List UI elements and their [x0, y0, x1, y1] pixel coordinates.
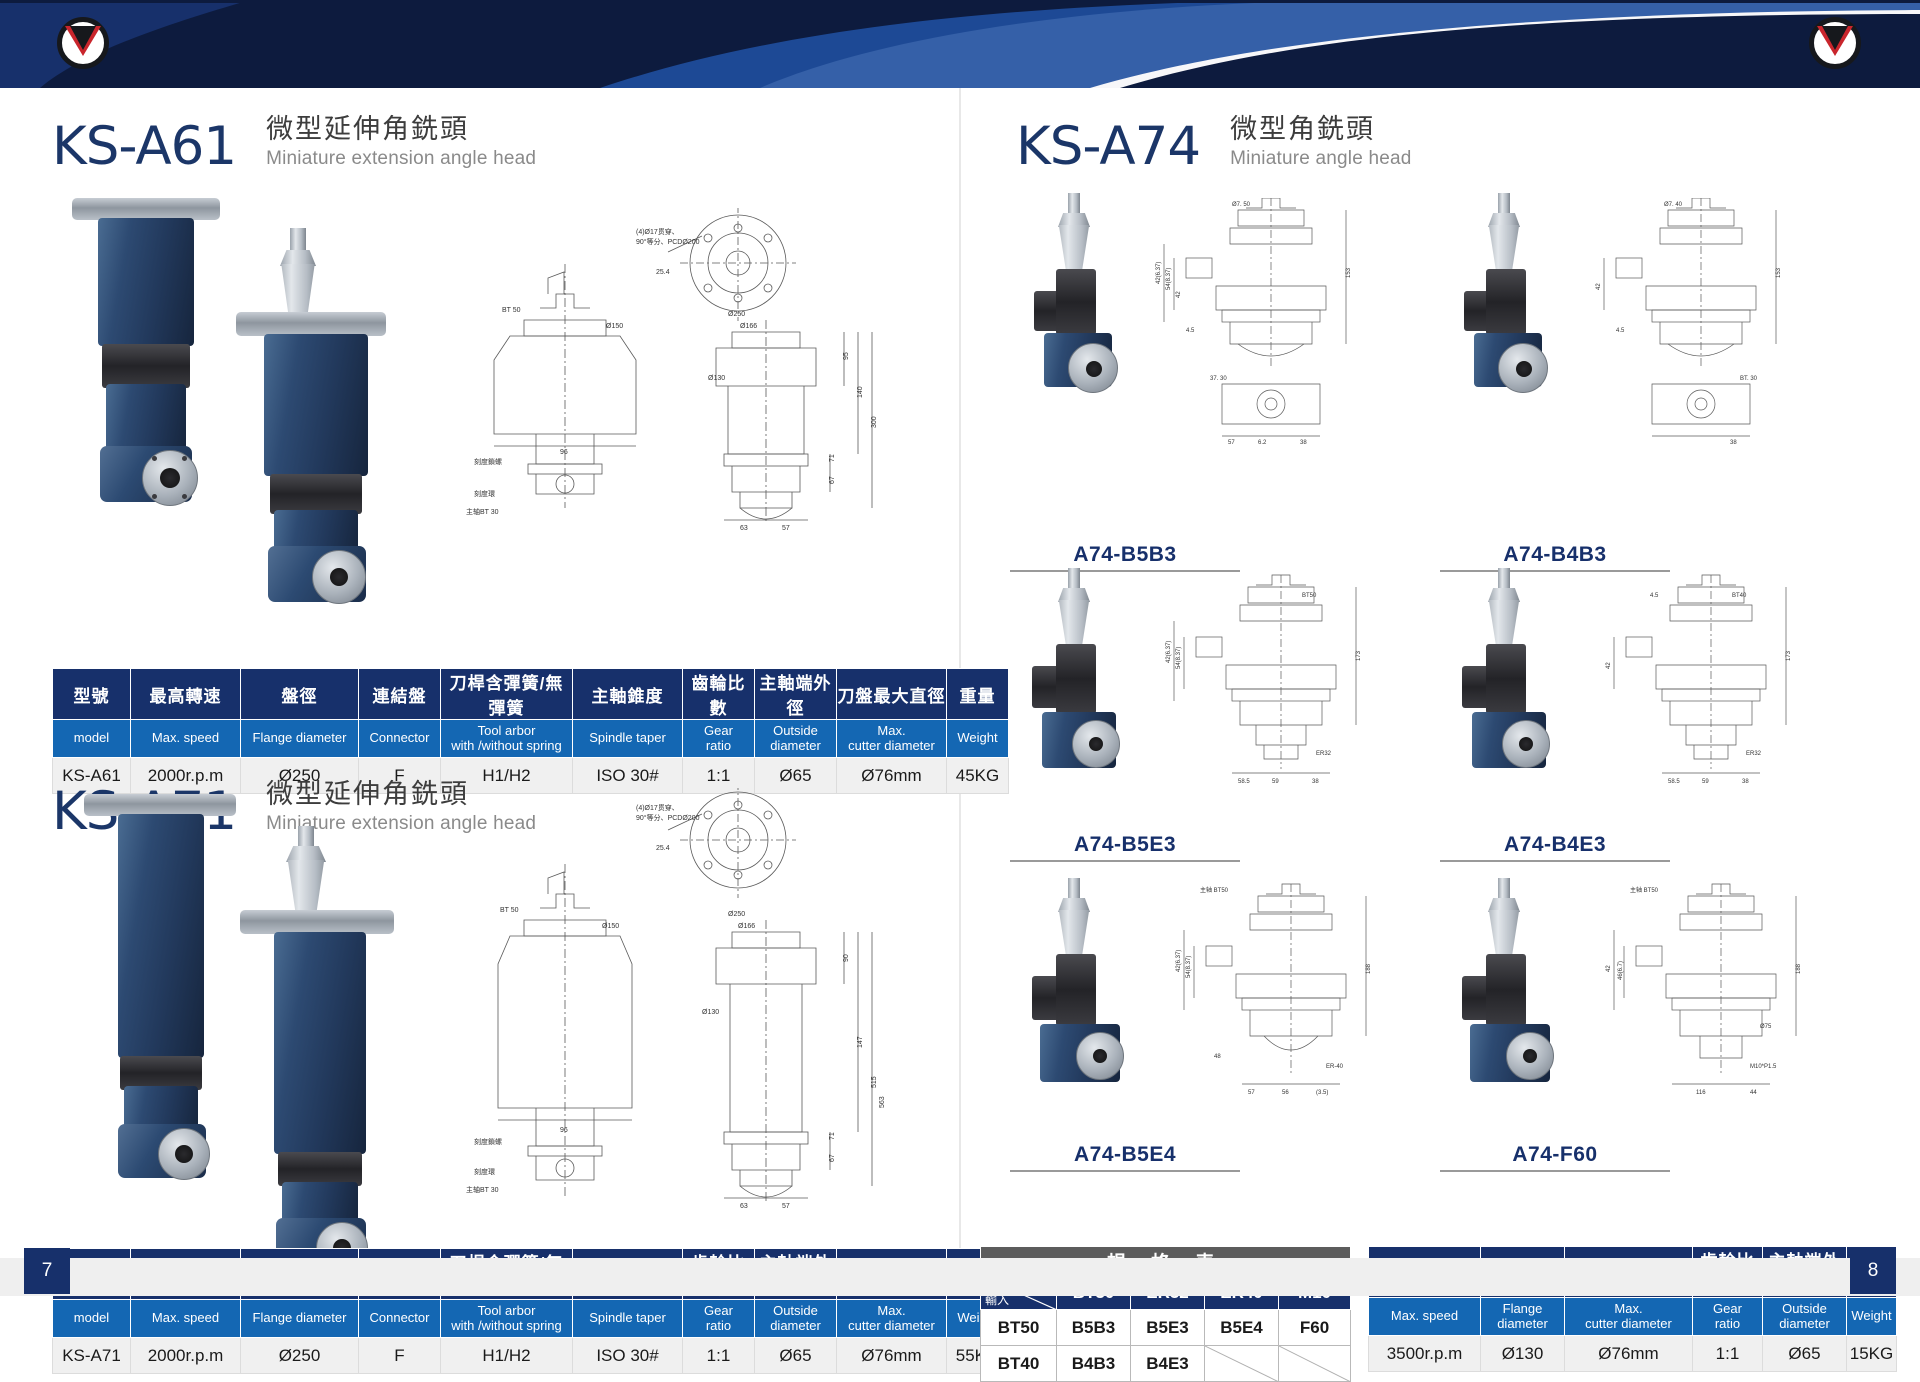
th-en-max-cutter-diameter: Max. cutter diameter [837, 1300, 947, 1338]
svg-text:BT50: BT50 [1302, 593, 1317, 599]
svg-text:71: 71 [829, 1132, 836, 1140]
th-en-gear-ratio: Gear ratio [683, 1300, 755, 1338]
svg-text:147: 147 [857, 1036, 864, 1048]
svg-text:Ø7. 50: Ø7. 50 [1232, 202, 1251, 208]
svg-text:63: 63 [740, 1203, 748, 1210]
technical-drawing-a74-b5b3: Ø7. 50 42(6.37) 54(8.37) 42 153 37. 30 4… [1150, 198, 1400, 448]
th-en-tool-arbor: Tool arbor with /without spring [441, 720, 573, 758]
product-photo-a74-f60 [1440, 878, 1600, 1138]
svg-text:54(8.37): 54(8.37) [1186, 956, 1192, 978]
section-name-en: Miniature extension angle head [266, 147, 536, 172]
table-header-row-en: model Max. speed Flange diameter Connect… [53, 720, 1009, 758]
th-en-spindle-taper: Spindle taper [573, 1300, 683, 1338]
right-page: KS-A74 微型角銑頭 Miniature angle head [960, 88, 1920, 1248]
svg-text:188: 188 [1796, 963, 1802, 974]
page-header-banner [0, 0, 1920, 88]
svg-text:主轴BT 30: 主轴BT 30 [466, 507, 499, 516]
svg-text:Ø250: Ø250 [728, 911, 745, 918]
svg-text:刻度環: 刻度環 [474, 1167, 495, 1176]
svg-text:90°等分、PCDØ200: 90°等分、PCDØ200 [636, 813, 700, 822]
product-photo-a74-b5e3 [1010, 568, 1160, 828]
banner-swoosh [0, 0, 1920, 88]
svg-text:153: 153 [1776, 267, 1782, 278]
svg-text:153: 153 [1346, 267, 1352, 278]
th-en-connector: Connector [359, 720, 441, 758]
svg-text:63: 63 [740, 525, 748, 532]
svg-text:173: 173 [1356, 650, 1362, 661]
svg-text:46(6.7): 46(6.7) [1618, 961, 1624, 980]
th-en-max-cutter-diameter: Max. cutter diameter [837, 720, 947, 758]
th-en-flange-diameter: Flange diameter [1481, 1298, 1565, 1336]
svg-text:57: 57 [1248, 1090, 1255, 1096]
th-en-max-speed: Max. speed [131, 720, 241, 758]
table-row: KS-A71 2000r.p.m Ø250 F H1/H2 ISO 30# 1:… [53, 1338, 1009, 1374]
section-name-cn: 微型延伸角銑頭 [266, 113, 536, 147]
svg-text:42(6.37): 42(6.37) [1166, 641, 1172, 663]
svg-text:ER-40: ER-40 [1326, 1064, 1344, 1070]
matrix-cell-bt40-er32: B4E3 [1131, 1346, 1205, 1382]
svg-text:BT 50: BT 50 [502, 307, 521, 314]
company-logo-left [48, 14, 122, 72]
th-en-spindle-taper: Spindle taper [573, 720, 683, 758]
footer-bar [0, 1258, 1920, 1296]
technical-drawing-a74-b5e3: BT50 42(6.37) 54(8.37) 173 ER32 58.5 59 … [1160, 573, 1410, 823]
spec-table-ks-a61: 型號 最高轉速 盤徑 連結盤 刀桿含彈簧/無彈簧 主軸錐度 齒輪比數 主軸端外徑… [52, 668, 1009, 794]
svg-text:BT 50: BT 50 [500, 907, 519, 914]
svg-text:ER32: ER32 [1316, 751, 1332, 757]
cell-gear-ratio: 1:1 [683, 1338, 755, 1374]
svg-text:25.4: 25.4 [656, 269, 670, 276]
svg-text:67: 67 [829, 1154, 836, 1162]
svg-text:(4)Ø17贯穿、: (4)Ø17贯穿、 [636, 227, 679, 236]
svg-text:58.5: 58.5 [1668, 779, 1680, 785]
th-en-gear-ratio: Gear ratio [683, 720, 755, 758]
product-photo-a74-b5e4 [1010, 878, 1170, 1138]
cell-max-speed: 2000r.p.m [131, 1338, 241, 1374]
logo-v-dark-icon [1822, 26, 1848, 50]
cell-outside-diameter: Ø65 [755, 1338, 837, 1374]
svg-text:71: 71 [829, 454, 836, 462]
svg-text:54(8.37): 54(8.37) [1176, 647, 1182, 669]
matrix-cell-bt40-m10-empty [1279, 1346, 1351, 1382]
th-cn-max-cutter-diameter: 刀盤最大直徑 [837, 669, 947, 720]
section-name-cn: 微型角銑頭 [1230, 113, 1411, 147]
page-number-right: 8 [1850, 1248, 1896, 1294]
technical-drawing-a74-b4e3: 4.5 BT40 42 173 ER32 58.5 59 38 [1590, 573, 1840, 823]
cell-weight: 15KG [1847, 1336, 1897, 1372]
th-en-max-speed: Max. speed [131, 1300, 241, 1338]
svg-text:Ø150: Ø150 [606, 323, 623, 330]
svg-text:42(6.37): 42(6.37) [1176, 950, 1182, 972]
svg-text:4.5: 4.5 [1616, 328, 1625, 334]
product-photo-a74-b4b3 [1440, 193, 1580, 453]
matrix-row-input-bt40: BT40 [981, 1346, 1057, 1382]
th-en-max-cutter-diameter: Max. cutter diameter [1565, 1298, 1693, 1336]
technical-drawing-a74-f60: 主轴 BT50 42 46(6.7) 188 M10*P1.5 116 44 Ø… [1600, 878, 1850, 1128]
technical-drawing-ks-a61: (4)Ø17贯穿、 90°等分、PCDØ200 25.4 BT 50 Ø150 … [440, 208, 940, 568]
product-photo-ks-a61-view2 [222, 228, 412, 608]
svg-text:主轴 BT50: 主轴 BT50 [1630, 886, 1659, 894]
company-logo-right [1800, 14, 1874, 72]
th-en-outside-diameter: Outside diameter [1763, 1298, 1847, 1336]
svg-text:515: 515 [871, 1076, 878, 1088]
svg-text:42: 42 [1606, 965, 1612, 972]
svg-text:42(6.37): 42(6.37) [1156, 262, 1162, 284]
th-en-model: model [53, 720, 131, 758]
svg-text:44: 44 [1750, 1090, 1757, 1096]
model-caption-a74-b5e4: A74-B5E4 [1010, 1143, 1240, 1175]
svg-text:56: 56 [1282, 1090, 1289, 1096]
svg-text:主轴BT 30: 主轴BT 30 [466, 1185, 499, 1194]
svg-text:刻度鎖螺: 刻度鎖螺 [474, 1137, 502, 1146]
product-photo-ks-a61-view1 [60, 198, 240, 538]
th-en-tool-arbor: Tool arbor with /without spring [441, 1300, 573, 1338]
section-title-ks-a74: KS-A74 微型角銑頭 Miniature angle head [1016, 113, 1412, 173]
th-en-outside-diameter: Outside diameter [755, 720, 837, 758]
svg-text:Ø130: Ø130 [708, 375, 725, 382]
svg-text:Ø75: Ø75 [1760, 1024, 1772, 1030]
logo-v-dark-icon [70, 26, 96, 50]
svg-text:54(8.37): 54(8.37) [1166, 268, 1172, 290]
matrix-cell-bt50-er32: B5E3 [1131, 1310, 1205, 1346]
th-cn-flange-diameter: 盤徑 [241, 669, 359, 720]
svg-text:96: 96 [560, 1127, 568, 1134]
cell-tool-arbor: H1/H2 [441, 1338, 573, 1374]
th-en-model: model [53, 1300, 131, 1338]
th-en-gear-ratio: Gear ratio [1693, 1298, 1763, 1336]
section-name-en: Miniature angle head [1230, 147, 1411, 172]
cell-model: KS-A71 [53, 1338, 131, 1374]
svg-text:ER32: ER32 [1746, 751, 1762, 757]
svg-text:Ø7. 40: Ø7. 40 [1664, 202, 1683, 208]
technical-drawing-a74-b5e4: 主轴 BT50 42(6.37) 54(8.37) 188 ER-40 57 5… [1170, 878, 1420, 1128]
svg-text:48: 48 [1214, 1054, 1221, 1060]
cell-spindle-taper: ISO 30# [573, 1338, 683, 1374]
svg-text:25.4: 25.4 [656, 845, 670, 852]
svg-text:M10*P1.5: M10*P1.5 [1750, 1064, 1777, 1070]
svg-text:57: 57 [782, 1203, 790, 1210]
diagonal-strike-icon [1205, 1346, 1278, 1382]
svg-text:59: 59 [1272, 779, 1279, 785]
cell-outside-diameter: Ø65 [1763, 1336, 1847, 1372]
svg-text:96: 96 [560, 449, 568, 456]
svg-text:4.5: 4.5 [1650, 593, 1659, 599]
svg-text:59: 59 [1702, 779, 1709, 785]
th-cn-gear-ratio: 齒輪比數 [683, 669, 755, 720]
th-en-weight: Weight [1847, 1298, 1897, 1336]
svg-text:38: 38 [1742, 779, 1749, 785]
cell-max-cutter-diameter: Ø76mm [1565, 1336, 1693, 1372]
svg-text:140: 140 [857, 386, 864, 398]
product-photo-a74-b5b3 [1010, 193, 1150, 453]
model-caption-a74-f60: A74-F60 [1440, 1143, 1670, 1175]
svg-text:Ø250: Ø250 [728, 311, 745, 318]
th-cn-connector: 連結盤 [359, 669, 441, 720]
th-cn-tool-arbor: 刀桿含彈簧/無彈簧 [441, 669, 573, 720]
svg-text:38: 38 [1730, 440, 1737, 446]
left-page: KS-A61 微型延伸角銑頭 Miniature extension angle… [0, 88, 960, 1248]
technical-drawing-a74-b4b3: Ø7. 40 42 153 4.5 38 BT. 30 [1580, 198, 1830, 448]
svg-text:116: 116 [1696, 1090, 1706, 1096]
product-photo-ks-a71-view2 [226, 826, 416, 1256]
svg-text:37. 30: 37. 30 [1210, 376, 1227, 382]
matrix-cell-bt50-m10: F60 [1279, 1310, 1351, 1346]
th-en-outside-diameter: Outside diameter [755, 1300, 837, 1338]
svg-text:BT40: BT40 [1732, 593, 1747, 599]
svg-text:38: 38 [1300, 440, 1307, 446]
matrix-cell-bt50-er40: B5E4 [1205, 1310, 1279, 1346]
svg-text:刻度鎖螺: 刻度鎖螺 [474, 457, 502, 466]
product-photo-a74-b4e3 [1440, 568, 1590, 828]
matrix-cell-bt40-er40-empty [1205, 1346, 1279, 1382]
matrix-row-input-bt50: BT50 [981, 1310, 1057, 1346]
matrix-cell-bt50-bt30: B5B3 [1057, 1310, 1131, 1346]
svg-text:Ø166: Ø166 [740, 323, 757, 330]
section-names: 微型角銑頭 Miniature angle head [1230, 113, 1411, 173]
section-names: 微型延伸角銑頭 Miniature extension angle head [266, 113, 536, 173]
th-cn-model: 型號 [53, 669, 131, 720]
svg-text:(3.5): (3.5) [1316, 1090, 1328, 1096]
svg-text:67: 67 [829, 476, 836, 484]
svg-text:42: 42 [1596, 283, 1602, 290]
svg-text:300: 300 [871, 416, 878, 428]
diagonal-strike-icon [1279, 1346, 1350, 1382]
svg-text:4.5: 4.5 [1186, 328, 1195, 334]
th-en-connector: Connector [359, 1300, 441, 1338]
model-caption-a74-b4e3: A74-B4E3 [1440, 833, 1670, 865]
svg-text:Ø166: Ø166 [738, 923, 755, 930]
table-row: BT50 B5B3 B5E3 B5E4 F60 [981, 1310, 1351, 1346]
th-en-max-speed: Max. speed [1369, 1298, 1481, 1336]
svg-text:42: 42 [1176, 291, 1182, 298]
th-cn-max-speed: 最高轉速 [131, 669, 241, 720]
th-en-flange-diameter: Flange diameter [241, 1300, 359, 1338]
cell-max-cutter-diameter: Ø76mm [837, 1338, 947, 1374]
svg-text:42: 42 [1606, 662, 1612, 669]
cell-max-speed: 3500r.p.m [1369, 1336, 1481, 1372]
svg-text:95: 95 [843, 352, 850, 360]
table-header-row-en: Max. speed Flange diameter Max. cutter d… [1369, 1298, 1897, 1336]
page-number-left: 7 [24, 1248, 70, 1294]
section-code: KS-A74 [1016, 120, 1200, 173]
svg-text:Ø130: Ø130 [702, 1009, 719, 1016]
table-row: 3500r.p.m Ø130 Ø76mm 1:1 Ø65 15KG [1369, 1336, 1897, 1372]
svg-text:90: 90 [843, 954, 850, 962]
svg-text:57: 57 [782, 525, 790, 532]
svg-text:(4)Ø17贯穿、: (4)Ø17贯穿、 [636, 803, 679, 812]
svg-text:57: 57 [1228, 440, 1235, 446]
svg-text:刻度環: 刻度環 [474, 489, 495, 498]
svg-text:563: 563 [879, 1096, 886, 1108]
table-header-row-cn: 型號 最高轉速 盤徑 連結盤 刀桿含彈簧/無彈簧 主軸錐度 齒輪比數 主軸端外徑… [53, 669, 1009, 720]
th-en-flange-diameter: Flange diameter [241, 720, 359, 758]
svg-text:173: 173 [1786, 650, 1792, 661]
cell-connector: F [359, 1338, 441, 1374]
table-row: BT40 B4B3 B4E3 [981, 1346, 1351, 1382]
svg-text:6.2: 6.2 [1258, 440, 1267, 446]
th-cn-spindle-taper: 主軸錐度 [573, 669, 683, 720]
svg-text:58.5: 58.5 [1238, 779, 1250, 785]
table-header-row-en: model Max. speed Flange diameter Connect… [53, 1300, 1009, 1338]
matrix-cell-bt40-bt30: B4B3 [1057, 1346, 1131, 1382]
section-code: KS-A61 [52, 120, 236, 173]
svg-text:90°等分、PCDØ200: 90°等分、PCDØ200 [636, 237, 700, 246]
svg-text:BT. 30: BT. 30 [1740, 376, 1758, 382]
svg-text:188: 188 [1366, 963, 1372, 974]
cell-flange-diameter: Ø250 [241, 1338, 359, 1374]
svg-text:主轴 BT50: 主轴 BT50 [1200, 886, 1229, 894]
technical-drawing-ks-a71: (4)Ø17贯穿、 90°等分、PCDØ200 25.4 BT 50 Ø150 … [440, 788, 940, 1248]
cell-gear-ratio: 1:1 [1693, 1336, 1763, 1372]
model-caption-a74-b5e3: A74-B5E3 [1010, 833, 1240, 865]
section-title-ks-a61: KS-A61 微型延伸角銑頭 Miniature extension angle… [52, 113, 536, 173]
svg-text:Ø150: Ø150 [602, 923, 619, 930]
svg-text:38: 38 [1312, 779, 1319, 785]
th-cn-outside-diameter: 主軸端外徑 [755, 669, 837, 720]
cell-flange-diameter: Ø130 [1481, 1336, 1565, 1372]
